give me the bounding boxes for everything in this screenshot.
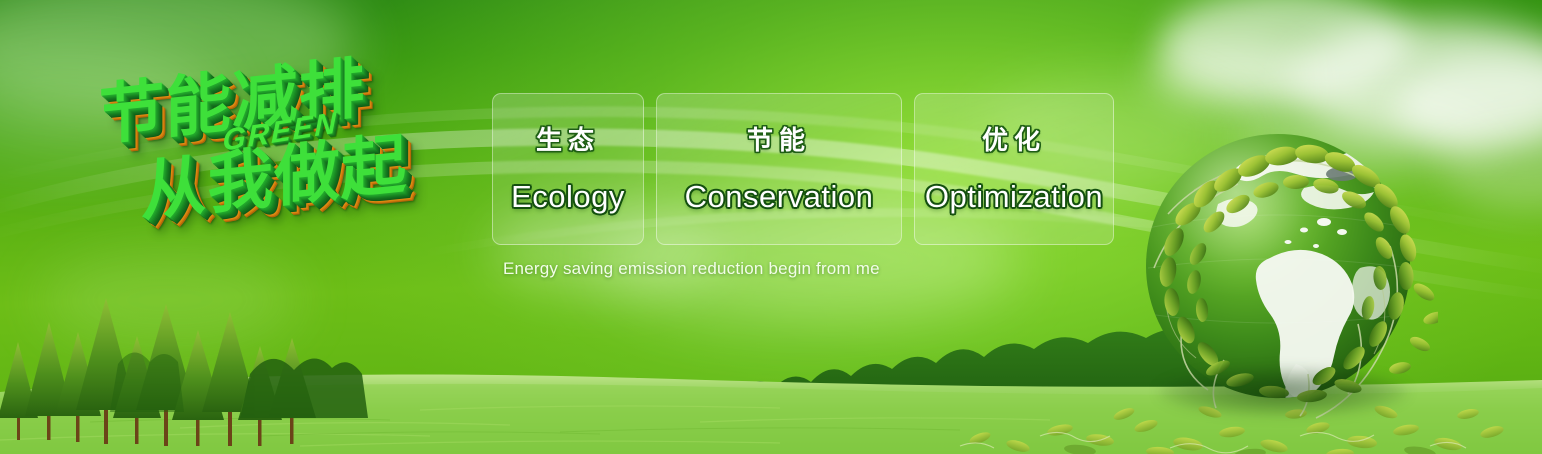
feature-card-label-en: Ecology: [511, 179, 625, 215]
feature-card-list: 生态 Ecology 节能 Conservation 优化 Optimizati…: [492, 93, 1114, 245]
green-energy-banner: 节能减排 GREEN 从我做起 生态 Ecology 节能 Conservati…: [0, 0, 1542, 454]
headline-3d: 节能减排 GREEN 从我做起: [85, 16, 507, 287]
feature-card-label-en: Optimization: [925, 179, 1103, 215]
feature-card-label-en: Conservation: [685, 179, 874, 215]
feature-card-label-cn: 优化: [982, 120, 1046, 157]
feature-card-ecology[interactable]: 生态 Ecology: [492, 93, 644, 245]
feature-card-optimization[interactable]: 优化 Optimization: [914, 93, 1114, 245]
banner-tagline: Energy saving emission reduction begin f…: [503, 259, 880, 279]
pine-tree-cluster: [0, 298, 368, 446]
feature-card-conservation[interactable]: 节能 Conservation: [656, 93, 902, 245]
feature-card-label-cn: 节能: [747, 120, 811, 157]
feature-card-label-cn: 生态: [536, 120, 600, 157]
cloud-icon: [1148, 40, 1318, 110]
cloud-icon: [1440, 120, 1542, 210]
cloud-icon: [1160, 0, 1410, 100]
globe-shadow: [1158, 368, 1408, 416]
earth-globe-graphic: [1128, 118, 1438, 428]
